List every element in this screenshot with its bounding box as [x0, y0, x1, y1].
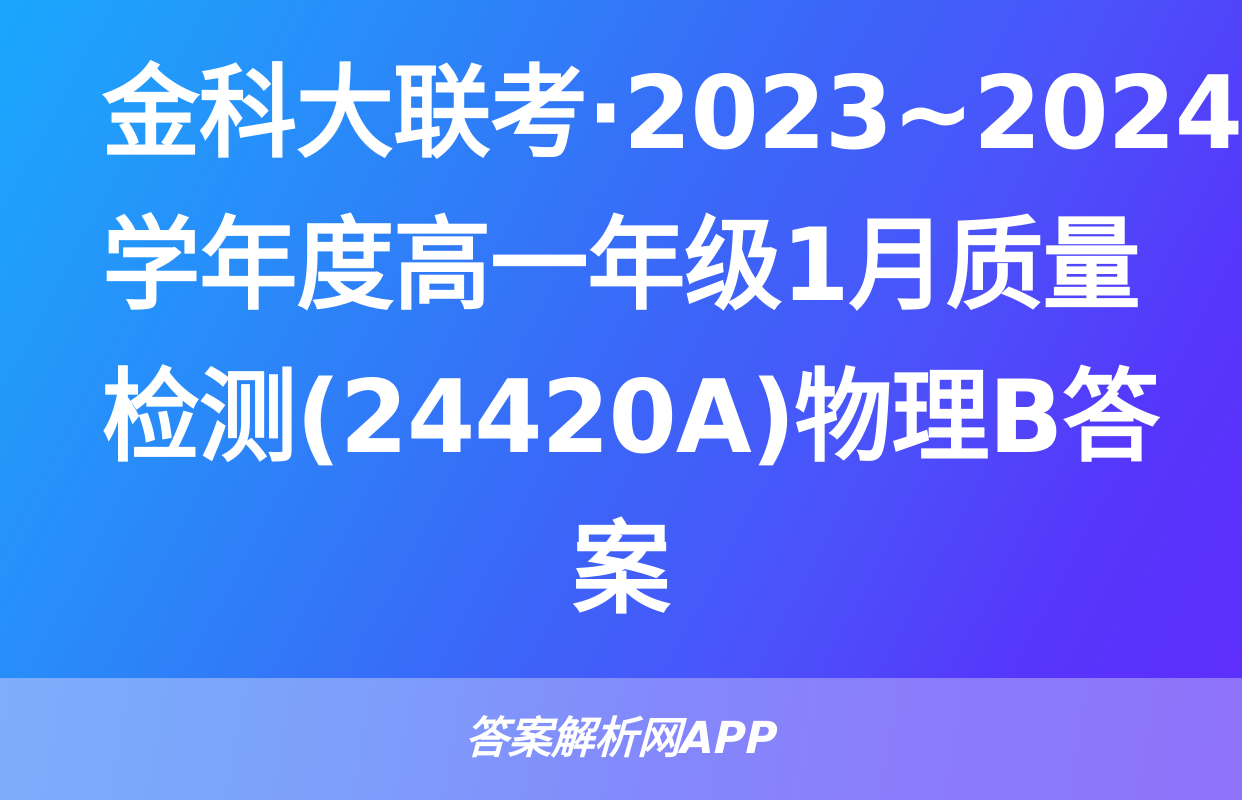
title-line-1: 金科大联考·2023~2024 [102, 37, 1140, 189]
title-line-3: 检测(24420A)物理B答 [102, 341, 1140, 493]
title-line-2: 学年度高一年级1月质量 [102, 189, 1140, 341]
hero-gradient-panel: 金科大联考·2023~2024 学年度高一年级1月质量 检测(24420A)物理… [0, 0, 1242, 678]
title-line-4: 案 [102, 493, 1140, 645]
poster-title-block: 金科大联考·2023~2024 学年度高一年级1月质量 检测(24420A)物理… [86, 33, 1156, 645]
footer-brand-band: 答案解析网APP [0, 678, 1242, 800]
exam-answer-poster: 金科大联考·2023~2024 学年度高一年级1月质量 检测(24420A)物理… [0, 0, 1242, 800]
footer-brand-label: 答案解析网APP [464, 716, 778, 762]
